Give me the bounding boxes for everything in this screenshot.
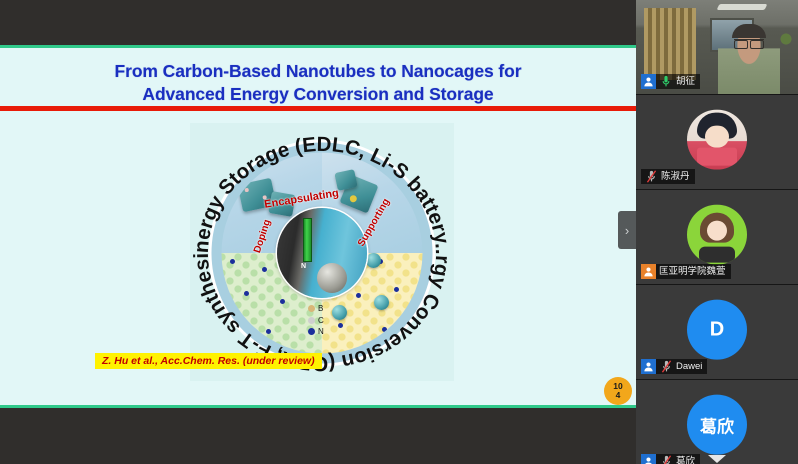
participant-name: 陈淑丹 — [658, 169, 695, 184]
participant-filmstrip[interactable]: 胡征 陈淑丹 匡亚明学 — [636, 0, 798, 464]
participant-tile[interactable]: 葛欣 葛欣 — [636, 380, 798, 464]
participant-picture-icon — [641, 264, 656, 279]
participant-name-bar: 陈淑丹 — [641, 169, 695, 184]
video-ceiling-light — [717, 4, 768, 10]
screen-share-stage: From Carbon-Based Nanotubes to Nanocages… — [0, 0, 636, 464]
participant-name-bar: 匡亚明学院魏萱 — [641, 264, 731, 279]
avatar: 葛欣 — [687, 395, 747, 455]
microphone-icon — [659, 74, 673, 89]
arc-text-energy-conversion: Energy Conversion (ORR, F-T synthesis...… — [190, 123, 454, 375]
circular-toc-graphic: N B C — [190, 123, 454, 381]
citation-reference: Z. Hu et al., Acc.Chem. Res. (under revi… — [95, 353, 322, 369]
participant-name-bar: 葛欣 — [641, 454, 700, 464]
chevron-down-icon[interactable] — [708, 455, 726, 463]
participant-name: Dawei — [673, 359, 707, 374]
participant-name-bar: 胡征 — [641, 74, 700, 89]
slide-title-line-2: Advanced Energy Conversion and Storage — [0, 83, 636, 106]
page-total: 4 — [616, 391, 621, 400]
slide-figure: N B C — [190, 123, 454, 381]
next-slide-button[interactable]: › — [618, 211, 636, 249]
participant-tile[interactable]: 胡征 — [636, 0, 798, 95]
participant-picture-icon — [641, 359, 656, 374]
arc-text-energy-storage: Energy Storage (EDLC, Li-S battery...) — [190, 123, 454, 255]
graphic-ring: Energy Storage (EDLC, Li-S battery...) E… — [190, 123, 454, 381]
presentation-slide: From Carbon-Based Nanotubes to Nanocages… — [0, 45, 636, 408]
participant-name: 葛欣 — [673, 454, 700, 464]
video-plant — [778, 30, 794, 48]
slide-title: From Carbon-Based Nanotubes to Nanocages… — [0, 60, 636, 107]
svg-text:Energy Conversion (ORR, F-T sy: Energy Conversion (ORR, F-T synthesis...… — [190, 123, 454, 375]
video-person-glasses — [734, 39, 764, 46]
participant-name: 胡征 — [673, 74, 700, 89]
page-indicator-badge[interactable]: 10 4 — [604, 377, 632, 405]
participant-name-bar: Dawei — [641, 359, 707, 374]
participant-picture-icon — [641, 74, 656, 89]
conference-window: From Carbon-Based Nanotubes to Nanocages… — [0, 0, 798, 464]
slide-title-line-1: From Carbon-Based Nanotubes to Nanocages… — [0, 60, 636, 83]
avatar — [687, 205, 747, 265]
chevron-right-icon: › — [625, 223, 629, 238]
participant-picture-icon — [641, 454, 656, 464]
participant-name: 匡亚明学院魏萱 — [656, 264, 731, 279]
avatar — [687, 110, 747, 170]
microphone-muted-icon — [659, 454, 673, 464]
microphone-muted-icon — [659, 359, 673, 374]
microphone-muted-icon — [644, 169, 658, 184]
participant-tile[interactable]: 匡亚明学院魏萱 — [636, 190, 798, 285]
participant-tile[interactable]: D Dawei — [636, 285, 798, 380]
title-divider-rule — [0, 106, 636, 111]
participant-tile[interactable]: 陈淑丹 — [636, 95, 798, 190]
svg-text:Energy Storage (EDLC, Li-S bat: Energy Storage (EDLC, Li-S battery...) — [190, 123, 454, 255]
video-curtain — [644, 8, 696, 80]
avatar: D — [687, 300, 747, 360]
